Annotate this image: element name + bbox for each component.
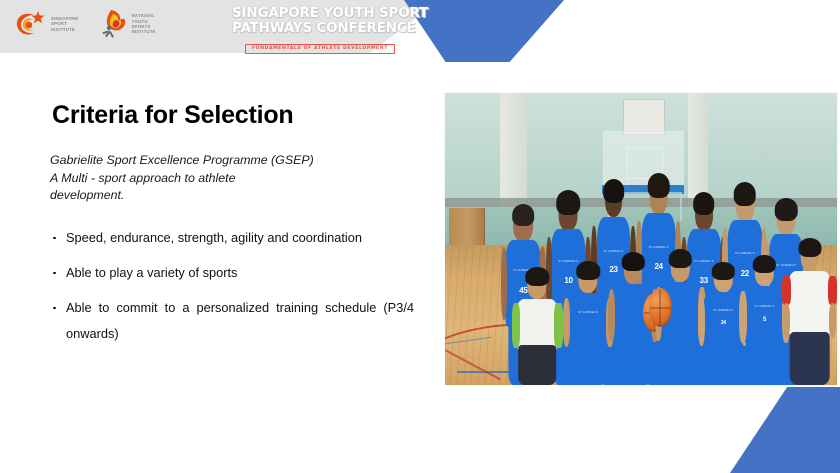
national-youth-sports-institute-logo: NationalYouthSportsInstitute [99,8,156,40]
header-band-content: SingaporeSportInstitute NationalYouthSpo… [0,0,440,53]
player-front-1 [512,268,563,385]
photo-scene: ST GABRIEL'S 45 ST GABRIEL'S 10 [445,93,837,385]
bullet-text: Able to commit to a personalized trainin… [66,300,414,341]
basketball-team-photo: ST GABRIEL'S 45 ST GABRIEL'S 10 [445,93,837,385]
jersey-text: ST GABRIEL'S [649,246,669,249]
page-title: Criteria for Selection [52,100,405,130]
jersey-text: ST GABRIEL'S [578,311,598,314]
nysi-logo-wordmark: NationalYouthSportsInstitute [132,13,156,34]
hoop-arm [623,99,665,135]
subtitle-line-2: A Multi - sport approach to athlete [50,170,350,188]
jersey-text: ST GABRIEL'S [755,305,775,308]
list-item: Able to commit to a personalized trainin… [50,295,414,347]
bullet-text: Speed, endurance, strength, agility and … [66,230,362,245]
subtitle-line-3: development. [50,187,350,205]
list-item: Able to play a variety of sports [50,260,414,286]
player-front-2: ST GABRIEL'S [563,262,614,385]
gym-door [449,208,485,246]
conference-title-line-1: SINGAPORE YOUTH SPORT [232,6,408,21]
content-column: Criteria for Selection Gabrielite Sport … [50,100,405,347]
decorative-blue-trapezoid-bottom-right [730,387,840,473]
jersey-text: ST GABRIEL'S [713,309,733,312]
jersey-number: 5 [763,317,766,323]
ssi-logo-wordmark: SingaporeSportInstitute [51,16,79,32]
bullet-text: Able to play a variety of sports [66,265,237,280]
subtitle-line-1: Gabrielite Sport Excellence Programme (G… [50,152,350,170]
list-item: Speed, endurance, strength, agility and … [50,225,414,251]
criteria-bullet-list: Speed, endurance, strength, agility and … [50,225,405,347]
jersey-text: ST GABRIEL'S [735,252,755,255]
logo-group: SingaporeSportInstitute NationalYouthSpo… [14,8,156,40]
ssi-logo-icon [14,9,48,39]
slide-canvas: SingaporeSportInstitute NationalYouthSpo… [0,0,840,473]
player-front-7 [782,239,837,385]
conference-tagline-badge: FUNDAMENTALS OF ATHLETE DEVELOPMENT [245,44,395,54]
basketball-right [649,288,672,327]
conference-title-line-2: PATHWAYS CONFERENCE [232,21,408,36]
jersey-number: 24 [721,321,726,326]
slide-subtitle: Gabrielite Sport Excellence Programme (G… [50,152,350,205]
singapore-sport-institute-logo: SingaporeSportInstitute [14,9,79,39]
nysi-logo-icon [99,8,129,40]
conference-title-block: SINGAPORE YOUTH SPORT PATHWAYS CONFERENC… [232,6,408,54]
